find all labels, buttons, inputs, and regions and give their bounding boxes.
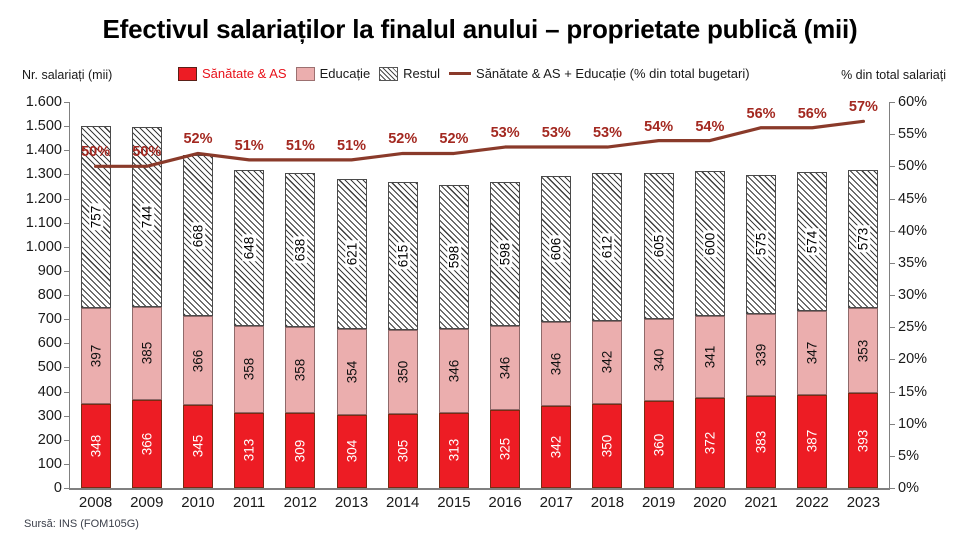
legend-label-restul: Restul	[403, 66, 440, 81]
y-tick-left	[64, 174, 69, 175]
y-tick-left	[64, 126, 69, 127]
pct-data-label: 51%	[286, 138, 315, 154]
y-tick-label-right: 50%	[898, 158, 958, 174]
y-tick-right	[890, 359, 895, 360]
y-tick-left	[64, 392, 69, 393]
y-tick-label-left: 1.300	[2, 166, 62, 182]
x-tick-label: 2013	[335, 494, 368, 511]
legend-row: Nr. salariați (mii) Sănătate & AS Educaț…	[0, 66, 960, 86]
y-tick-label-left: 1.500	[2, 118, 62, 134]
legend-item-sanatate[interactable]: Sănătate & AS	[178, 66, 287, 81]
y-tick-label-right: 0%	[898, 480, 958, 496]
y-tick-label-left: 300	[2, 408, 62, 424]
y-tick-label-right: 35%	[898, 255, 958, 271]
pct-data-label: 53%	[593, 125, 622, 141]
y-tick-label-left: 600	[2, 335, 62, 351]
x-tick-label: 2009	[130, 494, 163, 511]
y-tick-left	[64, 223, 69, 224]
pct-data-label: 51%	[235, 138, 264, 154]
legend: Sănătate & AS Educație Restul Sănătate &…	[178, 66, 750, 81]
y-tick-right	[890, 199, 895, 200]
y-tick-left	[64, 150, 69, 151]
pct-data-label: 50%	[81, 144, 110, 160]
y-tick-right	[890, 488, 895, 489]
x-tick-label: 2018	[591, 494, 624, 511]
y-tick-right	[890, 102, 895, 103]
y-tick-left	[64, 416, 69, 417]
y-tick-right	[890, 166, 895, 167]
y-tick-left	[64, 295, 69, 296]
legend-label-sanatate: Sănătate & AS	[202, 66, 287, 81]
pct-data-label: 53%	[542, 125, 571, 141]
y-tick-right	[890, 295, 895, 296]
y-tick-right	[890, 424, 895, 425]
pct-data-label: 54%	[644, 119, 673, 135]
x-tick-label: 2012	[284, 494, 317, 511]
y-tick-label-left: 200	[2, 432, 62, 448]
x-tick-label: 2011	[233, 494, 265, 511]
pct-data-label: 53%	[491, 125, 520, 141]
pct-data-label: 51%	[337, 138, 366, 154]
x-tick-label: 2017	[540, 494, 573, 511]
y-tick-label-right: 5%	[898, 448, 958, 464]
y-tick-left	[64, 440, 69, 441]
y-tick-label-right: 55%	[898, 126, 958, 142]
pct-data-label: 56%	[747, 106, 776, 122]
x-tick-label: 2020	[693, 494, 726, 511]
x-tick-label: 2010	[181, 494, 214, 511]
y-tick-label-right: 45%	[898, 191, 958, 207]
x-tick-label: 2008	[79, 494, 112, 511]
line-series-layer	[70, 102, 889, 488]
y-tick-left	[64, 464, 69, 465]
y-tick-left	[64, 102, 69, 103]
pct-data-label: 52%	[439, 131, 468, 147]
source-note: Sursă: INS (FOM105G)	[24, 518, 139, 530]
x-tick-label: 2019	[642, 494, 675, 511]
y-tick-label-left: 1.200	[2, 191, 62, 207]
x-tick-label: 2021	[744, 494, 777, 511]
y-tick-left	[64, 319, 69, 320]
legend-swatch-educatie-icon	[296, 67, 315, 81]
x-tick-label: 2016	[488, 494, 521, 511]
y-tick-left	[64, 367, 69, 368]
y-tick-left	[64, 271, 69, 272]
y-tick-label-right: 40%	[898, 223, 958, 239]
x-tick-label: 2022	[796, 494, 829, 511]
legend-swatch-line-icon	[449, 72, 471, 75]
legend-label-educatie: Educație	[320, 66, 371, 81]
chart-page: Efectivul salariaților la finalul anului…	[0, 0, 960, 540]
y-tick-label-left: 500	[2, 359, 62, 375]
y-tick-label-left: 1.400	[2, 142, 62, 158]
y-tick-label-left: 1.000	[2, 239, 62, 255]
x-tick-label: 2023	[847, 494, 880, 511]
y-tick-label-left: 400	[2, 384, 62, 400]
y-tick-label-right: 25%	[898, 319, 958, 335]
y-tick-label-right: 60%	[898, 94, 958, 110]
legend-swatch-sanatate-icon	[178, 67, 197, 81]
x-tick-label: 2014	[386, 494, 419, 511]
y-tick-right	[890, 327, 895, 328]
y-tick-right	[890, 231, 895, 232]
pct-data-label: 54%	[695, 119, 724, 135]
x-tick-label: 2015	[437, 494, 470, 511]
legend-item-educatie[interactable]: Educație	[296, 66, 371, 81]
y-tick-label-right: 10%	[898, 416, 958, 432]
y-tick-label-left: 700	[2, 311, 62, 327]
pct-data-label: 56%	[798, 106, 827, 122]
chart-title: Efectivul salariaților la finalul anului…	[0, 14, 960, 45]
pct-data-label: 52%	[183, 131, 212, 147]
y-tick-right	[890, 134, 895, 135]
pct-data-label: 52%	[388, 131, 417, 147]
y-tick-label-right: 20%	[898, 351, 958, 367]
y-tick-left	[64, 247, 69, 248]
y-tick-label-left: 800	[2, 287, 62, 303]
y-axis-right-labels: 0%5%10%15%20%25%30%35%40%45%50%55%60%	[898, 0, 960, 540]
x-axis-line	[69, 488, 890, 490]
y-tick-right	[890, 456, 895, 457]
y-tick-label-left: 0	[2, 480, 62, 496]
legend-label-linie: Sănătate & AS + Educație (% din total bu…	[476, 66, 750, 81]
y-tick-left	[64, 343, 69, 344]
pct-data-label: 57%	[849, 99, 878, 115]
pct-data-label: 50%	[132, 144, 161, 160]
y-tick-right	[890, 392, 895, 393]
legend-swatch-restul-icon	[379, 67, 398, 81]
legend-item-linie[interactable]: Sănătate & AS + Educație (% din total bu…	[449, 66, 750, 81]
y-axis-left-labels: 01002003004005006007008009001.0001.1001.…	[0, 0, 62, 540]
y-tick-label-left: 900	[2, 263, 62, 279]
y-tick-label-right: 30%	[898, 287, 958, 303]
y-tick-right	[890, 263, 895, 264]
plot-area: 3483977573663857443453666683133586483093…	[70, 102, 889, 488]
y-tick-label-right: 15%	[898, 384, 958, 400]
y-tick-label-left: 100	[2, 456, 62, 472]
legend-item-restul[interactable]: Restul	[379, 66, 440, 81]
y-tick-label-left: 1.600	[2, 94, 62, 110]
y-tick-left	[64, 199, 69, 200]
y-tick-label-left: 1.100	[2, 215, 62, 231]
y-tick-left	[64, 488, 69, 489]
